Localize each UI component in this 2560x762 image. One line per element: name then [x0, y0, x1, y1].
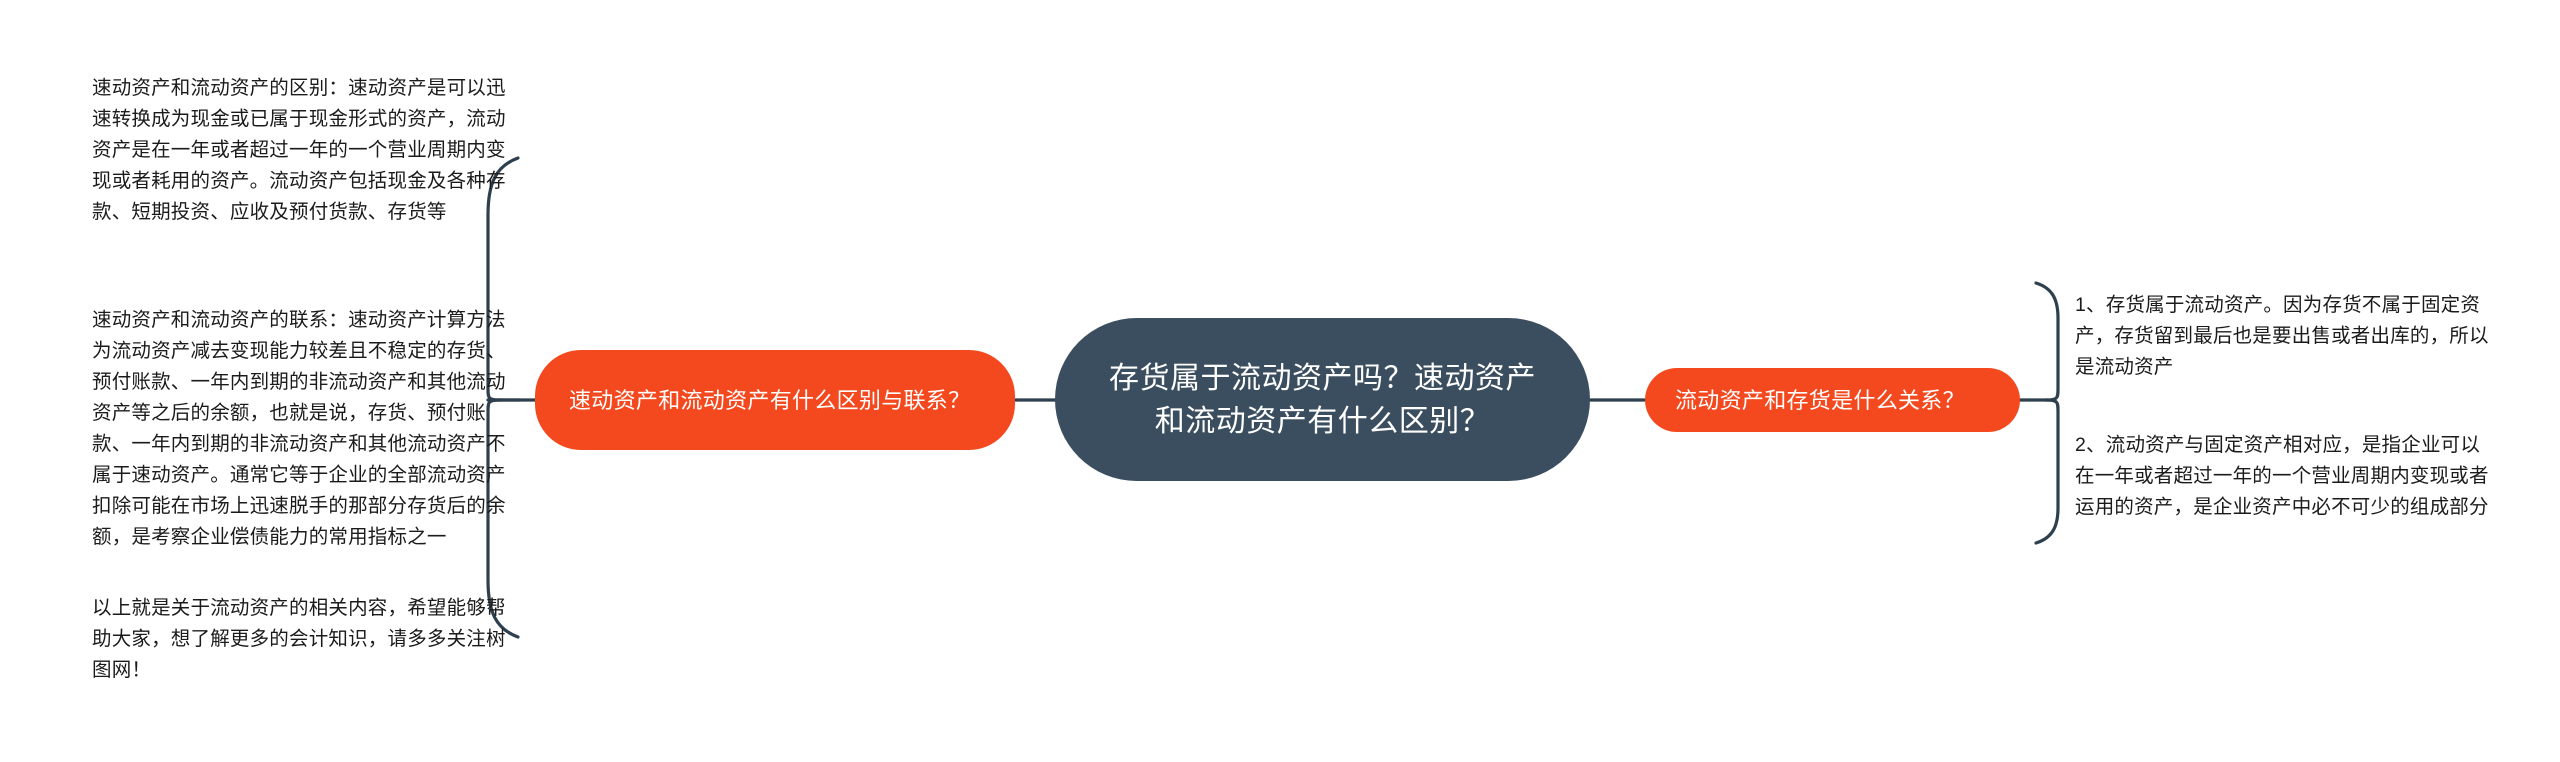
leaf-text-left-3: 以上就是关于流动资产的相关内容，希望能够帮助大家，想了解更多的会计知识，请多多关…: [92, 593, 522, 686]
branch-node-right[interactable]: 流动资产和存货是什么关系？: [1645, 368, 2020, 432]
leaf-text-right-1: 1、存货属于流动资产。因为存货不属于固定资产，存货留到最后也是要出售或者出库的，…: [2075, 290, 2495, 383]
central-topic-label: 存货属于流动资产吗？速动资产和流动资产有什么区别？: [1107, 357, 1538, 443]
leaf-text-right-2: 2、流动资产与固定资产相对应，是指企业可以在一年或者超过一年的一个营业周期内变现…: [2075, 430, 2495, 523]
leaf-text-left-1: 速动资产和流动资产的区别：速动资产是可以迅速转换成为现金或已属于现金形式的资产，…: [92, 73, 522, 228]
mindmap-canvas: 存货属于流动资产吗？速动资产和流动资产有什么区别？ 速动资产和流动资产有什么区别…: [0, 0, 2560, 762]
leaf-text-left-2: 速动资产和流动资产的联系：速动资产计算方法为流动资产减去变现能力较差且不稳定的存…: [92, 305, 522, 553]
brace-right-lower: [2036, 400, 2058, 543]
central-topic-node[interactable]: 存货属于流动资产吗？速动资产和流动资产有什么区别？: [1055, 318, 1590, 481]
branch-node-left[interactable]: 速动资产和流动资产有什么区别与联系？: [535, 350, 1015, 450]
brace-right-upper: [2036, 283, 2058, 400]
branch-node-left-label: 速动资产和流动资产有什么区别与联系？: [569, 384, 970, 417]
branch-node-right-label: 流动资产和存货是什么关系？: [1675, 384, 1965, 417]
